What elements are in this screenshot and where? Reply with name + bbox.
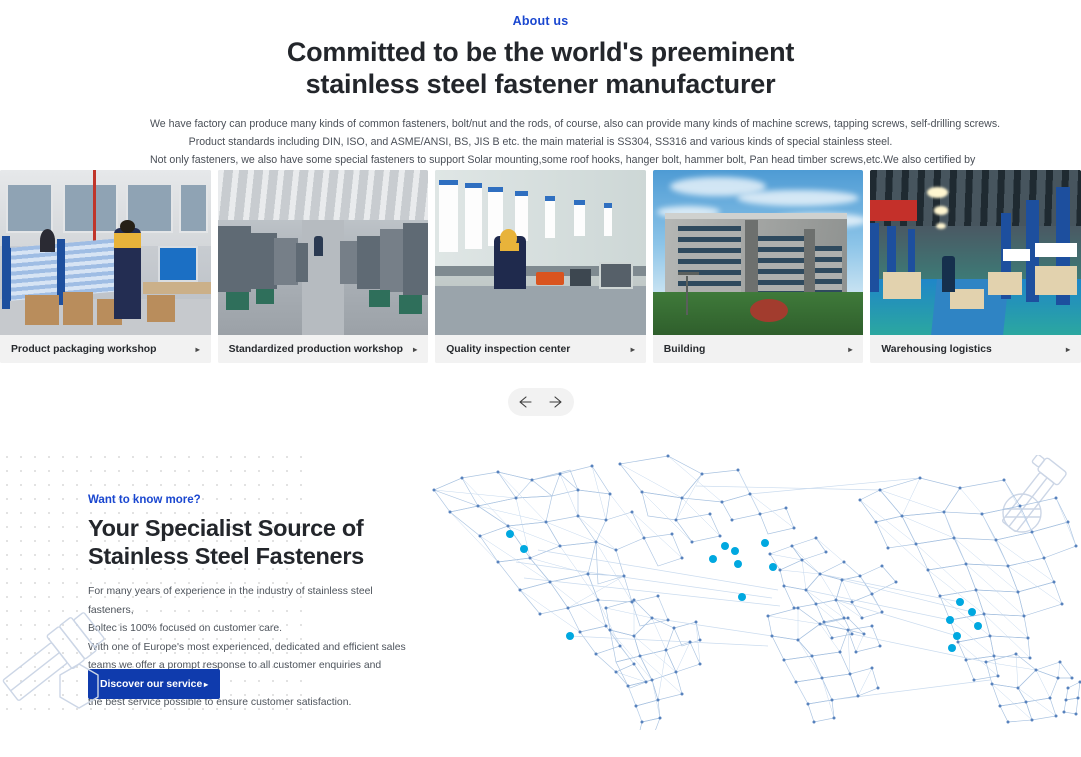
facility-card-caption[interactable]: Warehousing logistics ▸: [870, 335, 1081, 363]
cta-eyebrow: Want to know more?: [88, 494, 418, 506]
map-highlight-dot: [738, 593, 746, 601]
map-highlight-dot: [761, 539, 769, 547]
facility-card[interactable]: Building ▸: [653, 170, 864, 363]
map-highlight-dot: [721, 542, 729, 550]
facility-card-caption[interactable]: Quality inspection center ▸: [435, 335, 646, 363]
facility-card-label: Building: [664, 344, 706, 355]
about-eyebrow: About us: [0, 0, 1081, 28]
map-highlight-dot: [506, 530, 514, 538]
map-highlight-dot: [953, 632, 961, 640]
chevron-right-icon: ▸: [413, 345, 417, 354]
facility-card[interactable]: Product packaging workshop ▸: [0, 170, 211, 363]
about-header: About us Committed to be the world's pre…: [0, 0, 1081, 188]
chevron-right-icon: ▸: [196, 345, 200, 354]
cta-body-line: For many years of experience in the indu…: [88, 583, 418, 620]
world-network-map: [420, 450, 1081, 730]
map-highlight-dot: [974, 622, 982, 630]
map-highlight-dot: [566, 632, 574, 640]
map-highlight-dot: [968, 608, 976, 616]
map-highlight-dots: [506, 530, 982, 652]
chevron-right-icon: ▸: [631, 345, 635, 354]
arrow-left-icon[interactable]: [516, 395, 532, 409]
map-highlight-dot: [520, 545, 528, 553]
cta-title-line-1: Your Specialist Source of: [88, 515, 363, 541]
arrow-right-icon[interactable]: [549, 395, 565, 409]
about-title-line-2: stainless steel fastener manufacturer: [306, 69, 776, 99]
bolt-outline-decoration: [0, 605, 120, 740]
cta-section: Want to know more? Your Specialist Sourc…: [0, 450, 1081, 757]
production-workshop-photo: [218, 170, 429, 335]
cta-title-line-2: Stainless Steel Fasteners: [88, 543, 364, 569]
map-highlight-dot: [734, 560, 742, 568]
carousel-nav: [508, 388, 574, 416]
packaging-workshop-photo: [0, 170, 211, 335]
chevron-right-icon: ▸: [1066, 345, 1070, 354]
map-highlight-dot: [946, 616, 954, 624]
facility-card[interactable]: Warehousing logistics ▸: [870, 170, 1081, 363]
chevron-right-icon: ▸: [848, 345, 852, 354]
map-highlight-dot: [731, 547, 739, 555]
facility-card-caption[interactable]: Building ▸: [653, 335, 864, 363]
page-title: Committed to be the world's preeminent s…: [0, 37, 1081, 101]
warehouse-photo: [870, 170, 1081, 335]
about-page: About us Committed to be the world's pre…: [0, 0, 1081, 757]
about-paragraph-line: We have factory can produce many kinds o…: [150, 115, 931, 133]
quality-inspection-photo: [435, 170, 646, 335]
building-photo: [653, 170, 864, 335]
map-highlight-dot: [769, 563, 777, 571]
about-paragraph-line: Not only fasteners, we also have some sp…: [150, 151, 931, 169]
facility-card-label: Product packaging workshop: [11, 344, 157, 355]
facility-card-carousel: Product packaging workshop ▸: [0, 170, 1081, 363]
cta-body-line: With one of Europe's most experienced, d…: [88, 639, 418, 658]
facility-card-label: Quality inspection center: [446, 344, 570, 355]
map-highlight-dot: [709, 555, 717, 563]
chevron-right-icon: ▸: [204, 680, 208, 689]
facility-card-label: Standardized production workshop: [229, 344, 403, 355]
map-highlight-dot: [948, 644, 956, 652]
facility-card-caption[interactable]: Standardized production workshop ▸: [218, 335, 429, 363]
cta-title: Your Specialist Source of Stainless Stee…: [88, 514, 418, 570]
facility-card[interactable]: Standardized production workshop ▸: [218, 170, 429, 363]
facility-card-label: Warehousing logistics: [881, 344, 991, 355]
about-paragraph-line: Product standards including DIN, ISO, an…: [150, 133, 931, 151]
about-title-line-1: Committed to be the world's preeminent: [287, 37, 794, 67]
map-highlight-dot: [956, 598, 964, 606]
cta-body-line: Boltec is 100% focused on customer care.: [88, 620, 418, 639]
facility-card[interactable]: Quality inspection center ▸: [435, 170, 646, 363]
facility-card-caption[interactable]: Product packaging workshop ▸: [0, 335, 211, 363]
